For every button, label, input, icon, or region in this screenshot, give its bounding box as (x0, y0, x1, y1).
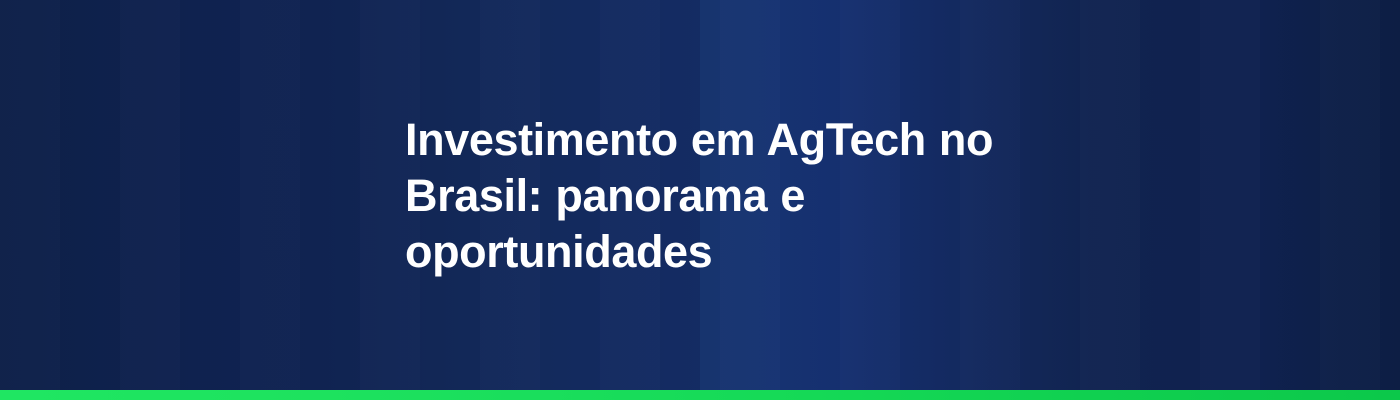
hero-banner: Investimento em AgTech no Brasil: panora… (0, 0, 1400, 400)
hero-title-container: Investimento em AgTech no Brasil: panora… (405, 112, 1045, 280)
accent-bar-bottom (0, 390, 1400, 400)
page-title: Investimento em AgTech no Brasil: panora… (405, 112, 1045, 280)
